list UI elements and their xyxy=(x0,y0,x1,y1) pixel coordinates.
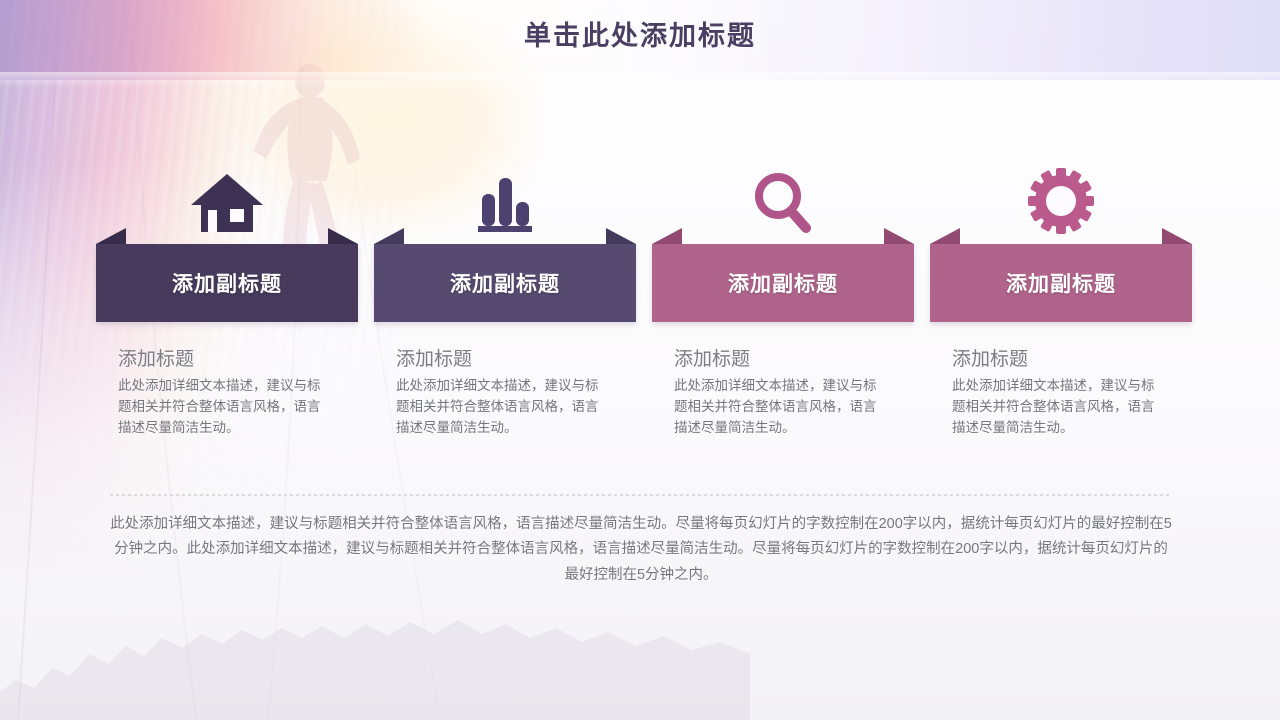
ribbon-tail-left-icon xyxy=(374,228,404,244)
bar-chart-icon xyxy=(374,150,636,238)
block-body-2: 此处添加详细文本描述，建议与标题相关并符合整体语言风格，语言描述尽量简洁生动。 xyxy=(396,376,611,439)
text-block-4: 添加标题 此处添加详细文本描述，建议与标题相关并符合整体语言风格，语言描述尽量简… xyxy=(930,348,1192,439)
ribbon-tail-right-icon xyxy=(606,228,636,244)
dotted-divider xyxy=(110,494,1172,496)
ribbon-1[interactable]: 添加副标题 xyxy=(96,244,358,322)
ribbon-4[interactable]: 添加副标题 xyxy=(930,244,1192,322)
ribbon-tail-right-icon xyxy=(884,228,914,244)
home-icon xyxy=(96,150,358,238)
block-body-1: 此处添加详细文本描述，建议与标题相关并符合整体语言风格，语言描述尽量简洁生动。 xyxy=(118,376,333,439)
search-icon xyxy=(652,150,914,238)
block-heading-1: 添加标题 xyxy=(118,348,358,372)
ribbon-bar-2[interactable]: 添加副标题 xyxy=(374,244,636,322)
content-columns: 添加副标题 添加标题 此处添加详细文本描述，建议与标题相关并符合整体语言风格，语… xyxy=(96,150,1190,480)
ribbon-tail-right-icon xyxy=(328,228,358,244)
ribbon-label-2: 添加副标题 xyxy=(450,268,560,298)
footer-paragraph: 此处添加详细文本描述，建议与标题相关并符合整体语言风格，语言描述尽量简洁生动。尽… xyxy=(110,512,1172,588)
ribbon-3[interactable]: 添加副标题 xyxy=(652,244,914,322)
block-heading-2: 添加标题 xyxy=(396,348,636,372)
gear-icon xyxy=(930,150,1192,238)
ribbon-label-3: 添加副标题 xyxy=(728,268,838,298)
ribbon-bar-1[interactable]: 添加副标题 xyxy=(96,244,358,322)
ribbon-bar-3[interactable]: 添加副标题 xyxy=(652,244,914,322)
block-heading-4: 添加标题 xyxy=(952,348,1192,372)
block-body-3: 此处添加详细文本描述，建议与标题相关并符合整体语言风格，语言描述尽量简洁生动。 xyxy=(674,376,889,439)
ribbon-tail-left-icon xyxy=(930,228,960,244)
column-1: 添加副标题 添加标题 此处添加详细文本描述，建议与标题相关并符合整体语言风格，语… xyxy=(96,150,358,439)
ribbon-tail-left-icon xyxy=(652,228,682,244)
block-heading-3: 添加标题 xyxy=(674,348,914,372)
slide: 单击此处添加标题 添加副标题 xyxy=(0,0,1280,720)
text-block-3: 添加标题 此处添加详细文本描述，建议与标题相关并符合整体语言风格，语言描述尽量简… xyxy=(652,348,914,439)
ribbon-label-1: 添加副标题 xyxy=(172,268,282,298)
ribbon-label-4: 添加副标题 xyxy=(1006,268,1116,298)
ribbon-tail-right-icon xyxy=(1162,228,1192,244)
text-block-2: 添加标题 此处添加详细文本描述，建议与标题相关并符合整体语言风格，语言描述尽量简… xyxy=(374,348,636,439)
ribbon-2[interactable]: 添加副标题 xyxy=(374,244,636,322)
ribbon-tail-left-icon xyxy=(96,228,126,244)
header-band-fade xyxy=(0,72,1280,88)
text-block-1: 添加标题 此处添加详细文本描述，建议与标题相关并符合整体语言风格，语言描述尽量简… xyxy=(96,348,358,439)
block-body-4: 此处添加详细文本描述，建议与标题相关并符合整体语言风格，语言描述尽量简洁生动。 xyxy=(952,376,1167,439)
page-title: 单击此处添加标题 xyxy=(0,14,1280,53)
column-3: 添加副标题 添加标题 此处添加详细文本描述，建议与标题相关并符合整体语言风格，语… xyxy=(652,150,914,439)
column-2: 添加副标题 添加标题 此处添加详细文本描述，建议与标题相关并符合整体语言风格，语… xyxy=(374,150,636,439)
ribbon-bar-4[interactable]: 添加副标题 xyxy=(930,244,1192,322)
column-4: 添加副标题 添加标题 此处添加详细文本描述，建议与标题相关并符合整体语言风格，语… xyxy=(930,150,1192,439)
